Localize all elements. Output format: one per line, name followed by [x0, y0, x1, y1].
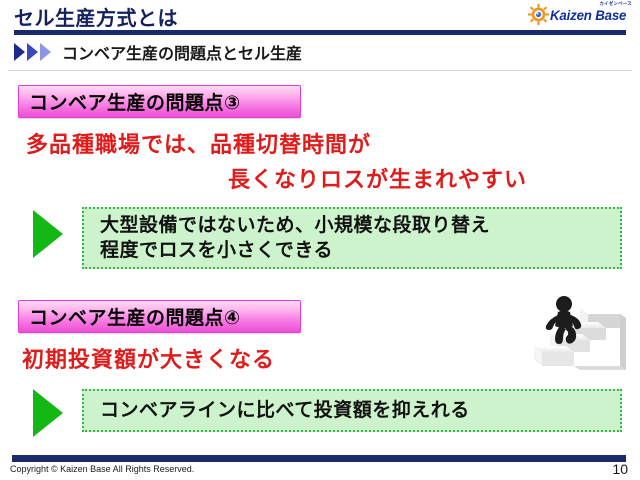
logo-wordmark: Kaizen Base [550, 7, 626, 23]
problem-headline-3-line2: 長くなりロスが生まれやすい [228, 162, 527, 194]
page-number: 10 [612, 461, 628, 477]
footer-copyright-text: Copyright © Kaizen Base All Rights Reser… [10, 464, 194, 474]
slide-header: セル生産方式とは カイゼンベース Kaizen B [0, 0, 640, 34]
triple-chevron-right-icon [14, 43, 60, 61]
problem-headline-3-line1: 多品種職場では、品種切替時間が [26, 127, 371, 159]
page-title: セル生産方式とは [14, 2, 178, 31]
solution-callout-box-1: 大型設備ではないため、小規模な段取り替え 程度でロスを小さくできる [82, 207, 622, 269]
problem-label-box-3: コンベア生産の問題点③ [18, 85, 301, 118]
header-divider-bar [14, 30, 626, 35]
section-subtitle-row: コンベア生産の問題点とセル生産 [0, 40, 640, 66]
subtitle-underline [8, 70, 632, 71]
solution-callout-text-2: コンベアラインに比べて投資額を抑えれる [100, 398, 470, 423]
footer-divider-bar [12, 455, 626, 462]
problem-headline-4-line1: 初期投資額が大きくなる [22, 342, 275, 374]
problem-label-box-4: コンベア生産の問題点④ [18, 300, 301, 333]
person-climbing-stairs-illustration [488, 292, 632, 376]
solution-callout-box-2: コンベアラインに比べて投資額を抑えれる [82, 389, 622, 432]
problem-label-text-3: コンベア生産の問題点③ [29, 88, 241, 115]
problem-label-text-4: コンベア生産の問題点④ [29, 303, 241, 330]
green-triangle-icon [33, 389, 63, 437]
section-subtitle-text: コンベア生産の問題点とセル生産 [62, 40, 302, 64]
solution-callout-text-1: 大型設備ではないため、小規模な段取り替え 程度でロスを小さくできる [100, 213, 490, 263]
gear-sun-icon [528, 4, 549, 25]
brand-logo: カイゼンベース Kaizen Base [528, 1, 634, 29]
green-triangle-icon [33, 210, 63, 258]
